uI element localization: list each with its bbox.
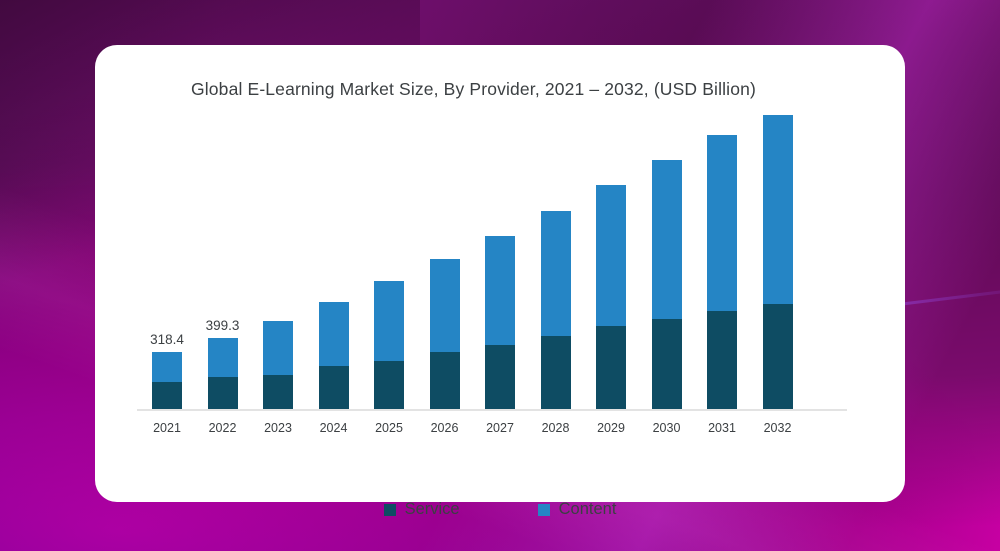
bar-group[interactable]: 2023	[263, 321, 293, 409]
bar-group[interactable]: 399.32022	[208, 338, 238, 409]
bar-group[interactable]: 2029	[596, 185, 626, 409]
bar-segment-content[interactable]	[485, 236, 515, 345]
bar-segment-service[interactable]	[763, 304, 793, 409]
bar-segment-content[interactable]	[652, 160, 682, 319]
bar-group[interactable]: 2030	[652, 160, 682, 409]
chart-legend: ServiceContent	[95, 500, 905, 519]
bar-segment-service[interactable]	[263, 375, 293, 409]
x-axis-line	[137, 409, 847, 411]
bar-group[interactable]: 2032	[763, 115, 793, 409]
legend-item[interactable]: Content	[538, 500, 617, 519]
bar-segment-service[interactable]	[485, 345, 515, 409]
x-axis-tick-label: 2030	[653, 421, 681, 435]
x-axis-tick-label: 2029	[597, 421, 625, 435]
bar-segment-service[interactable]	[319, 366, 349, 409]
bar-value-label: 318.4	[150, 332, 184, 347]
bar-segment-service[interactable]	[596, 326, 626, 409]
bar-segment-service[interactable]	[208, 377, 238, 409]
bar-series-container: 318.42021399.320222023202420252026202720…	[152, 105, 852, 409]
bar-segment-service[interactable]	[430, 352, 460, 409]
bar-segment-service[interactable]	[541, 336, 571, 409]
x-axis-tick-label: 2027	[486, 421, 514, 435]
bar-segment-content[interactable]	[596, 185, 626, 326]
legend-swatch-icon	[384, 504, 396, 516]
x-axis-tick-label: 2026	[431, 421, 459, 435]
bar-group[interactable]: 318.42021	[152, 352, 182, 409]
bar-group[interactable]: 2025	[374, 281, 404, 409]
x-axis-tick-label: 2021	[153, 421, 181, 435]
x-axis-tick-label: 2028	[542, 421, 570, 435]
bar-segment-content[interactable]	[541, 211, 571, 336]
bar-segment-content[interactable]	[319, 302, 349, 366]
bar-segment-content[interactable]	[263, 321, 293, 375]
bar-group[interactable]: 2027	[485, 236, 515, 409]
x-axis-tick-label: 2024	[320, 421, 348, 435]
chart-plot-area: 318.42021399.320222023202420252026202720…	[95, 45, 905, 502]
bar-value-label: 399.3	[206, 318, 240, 333]
legend-item[interactable]: Service	[384, 500, 460, 519]
bar-segment-content[interactable]	[374, 281, 404, 361]
x-axis-tick-label: 2022	[209, 421, 237, 435]
x-axis-tick-label: 2023	[264, 421, 292, 435]
bar-group[interactable]: 2028	[541, 211, 571, 409]
bar-segment-content[interactable]	[707, 135, 737, 311]
bar-group[interactable]: 2024	[319, 302, 349, 409]
bar-segment-content[interactable]	[152, 352, 182, 382]
legend-label: Service	[405, 500, 460, 519]
x-axis-tick-label: 2032	[764, 421, 792, 435]
legend-label: Content	[559, 500, 617, 519]
chart-card: Global E-Learning Market Size, By Provid…	[95, 45, 905, 502]
bar-segment-service[interactable]	[374, 361, 404, 409]
bar-segment-content[interactable]	[763, 115, 793, 304]
bar-segment-content[interactable]	[430, 259, 460, 352]
x-axis-tick-label: 2031	[708, 421, 736, 435]
legend-swatch-icon	[538, 504, 550, 516]
bar-segment-service[interactable]	[707, 311, 737, 409]
bar-segment-content[interactable]	[208, 338, 238, 378]
bar-group[interactable]: 2031	[707, 135, 737, 409]
bar-group[interactable]: 2026	[430, 259, 460, 409]
bar-segment-service[interactable]	[652, 319, 682, 409]
bar-segment-service[interactable]	[152, 382, 182, 409]
x-axis-tick-label: 2025	[375, 421, 403, 435]
